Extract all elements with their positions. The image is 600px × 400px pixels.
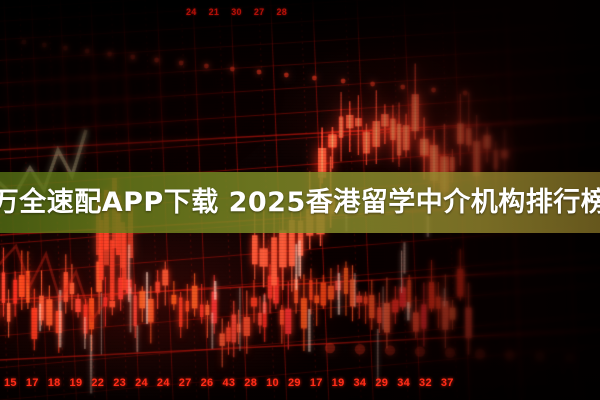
stock-chart-banner-image: 2421302728 15171819222324242726432810291… — [0, 0, 600, 400]
title-banner-band: 万全速配APP下载 2025香港留学中介机构排行榜 — [0, 172, 600, 233]
banner-title-text: 万全速配APP下载 2025香港留学中介机构排行榜 — [0, 189, 600, 216]
